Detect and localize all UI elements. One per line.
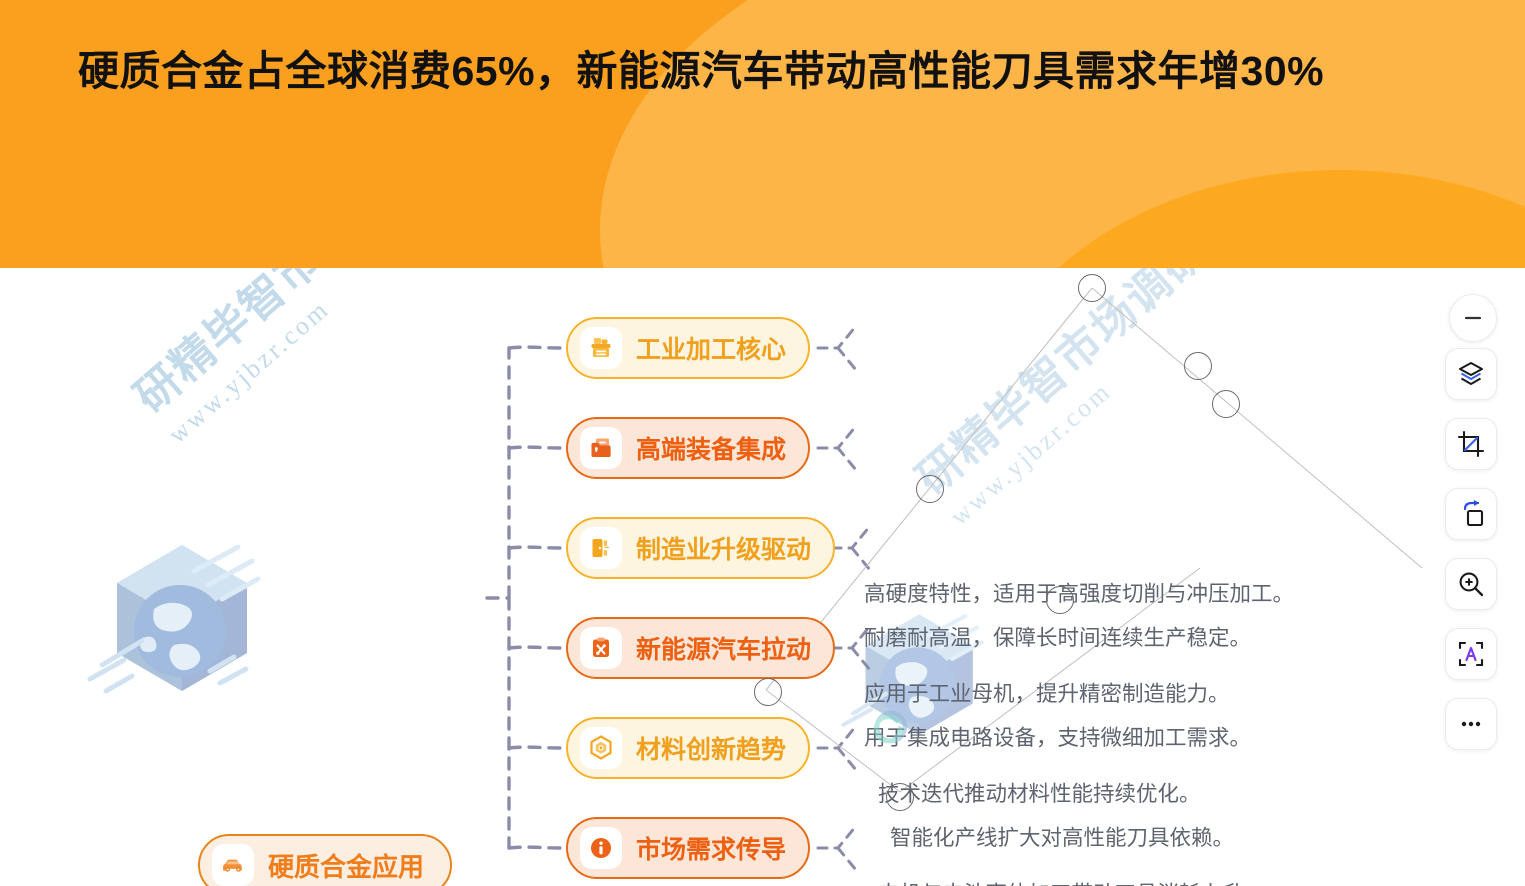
layers-icon	[1457, 360, 1485, 388]
hexagon-gear-icon	[580, 727, 622, 769]
more-options-icon	[1457, 710, 1485, 738]
image-tools-toolbar	[1445, 288, 1497, 768]
leaf-text-1-1: 高硬度特性，适用于高强度切削与冲压加工。	[864, 581, 1294, 607]
minimize-button[interactable]	[1449, 294, 1497, 342]
crop-icon	[1457, 430, 1485, 458]
info-icon	[580, 827, 622, 869]
selection-handle-top[interactable]	[1078, 274, 1106, 302]
selection-handle-right[interactable]	[1212, 390, 1240, 418]
car-icon	[212, 844, 254, 886]
branch-node-1-label: 工业加工核心	[636, 330, 786, 366]
more-options-button[interactable]	[1445, 698, 1497, 750]
branch-node-1[interactable]: 工业加工核心	[566, 317, 810, 379]
root-node-label: 硬质合金应用	[268, 847, 424, 884]
text-recognize-button[interactable]	[1445, 628, 1497, 680]
text-recognize-icon	[1457, 640, 1485, 668]
branch-node-3-label: 制造业升级驱动	[636, 530, 811, 566]
branch-node-2[interactable]: 高端装备集成	[566, 417, 810, 479]
crop-button[interactable]	[1445, 418, 1497, 470]
slide-canvas: 硬质合金占全球消费65%，新能源汽车带动高性能刀具需求年增30% 研精毕智市场调…	[0, 0, 1525, 886]
archive-box-icon	[580, 327, 622, 369]
branch-node-5-label: 材料创新趋势	[636, 730, 786, 766]
branch-node-4-label: 新能源汽车拉动	[636, 630, 811, 666]
branch-node-3[interactable]: 制造业升级驱动	[566, 517, 835, 579]
mindmap-canvas: 研精毕智市场调研 www.yjbzr.com 研精毕智市场调研 www.yjbz…	[0, 268, 1525, 886]
page-title: 硬质合金占全球消费65%，新能源汽车带动高性能刀具需求年增30%	[78, 40, 1418, 102]
rotate-share-button[interactable]	[1445, 488, 1497, 540]
copyright-watermark-icon	[873, 709, 909, 745]
zoom-in-icon	[1457, 570, 1485, 598]
rotate-share-icon	[1457, 500, 1485, 528]
selection-handle-left[interactable]	[916, 475, 944, 503]
clipboard-tools-icon	[580, 627, 622, 669]
leaf-text-2-2: 用于集成电路设备，支持微细加工需求。	[864, 725, 1251, 751]
leaf-text-2-1: 应用于工业母机，提升精密制造能力。	[864, 681, 1230, 707]
folder-icon	[580, 427, 622, 469]
branch-node-6[interactable]: 市场需求传导	[566, 817, 810, 879]
zoom-in-button[interactable]	[1445, 558, 1497, 610]
branch-node-6-label: 市场需求传导	[636, 830, 786, 866]
branch-node-2-label: 高端装备集成	[636, 430, 786, 466]
leaf-text-3-2: 智能化产线扩大对高性能刀具依赖。	[890, 825, 1234, 851]
selection-handle-bottom[interactable]	[886, 783, 914, 811]
leaf-text-1-2: 耐磨耐高温，保障长时间连续生产稳定。	[864, 625, 1251, 651]
branch-node-4[interactable]: 新能源汽车拉动	[566, 617, 835, 679]
door-panel-icon	[580, 527, 622, 569]
layers-button[interactable]	[1445, 348, 1497, 400]
root-node[interactable]: 硬质合金应用	[198, 834, 452, 886]
selection-handle-bottom-right[interactable]	[1046, 586, 1074, 614]
selection-handle-top-right[interactable]	[1184, 352, 1212, 380]
leaf-text-4-1: 电机与电池壳体加工带动刀具消耗上升。	[878, 881, 1265, 886]
leaf-text-3-1: 技术迭代推动材料性能持续优化。	[878, 781, 1201, 807]
branch-node-5[interactable]: 材料创新趋势	[566, 717, 810, 779]
minimize-icon	[1462, 307, 1484, 329]
selection-handle-bottom-left[interactable]	[754, 678, 782, 706]
